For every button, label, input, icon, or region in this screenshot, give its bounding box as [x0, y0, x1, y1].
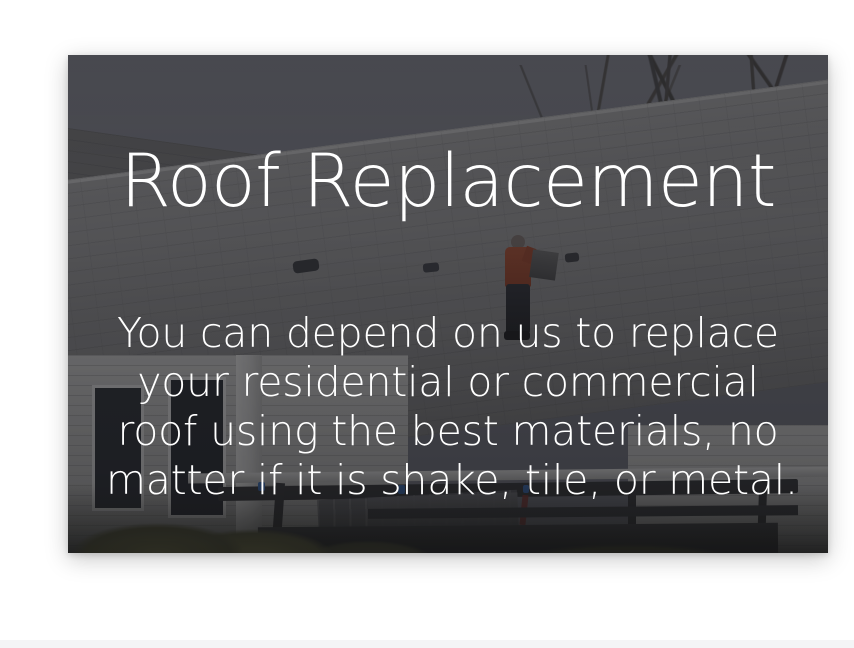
page-root: Roof Replacement You can depend on us to…: [0, 0, 854, 648]
hero-description-line-1: You can depend on us to replace: [106, 309, 790, 358]
hero-description-line-2: your residential or commercial: [106, 358, 790, 407]
hero-description: You can depend on us to replace your res…: [106, 309, 790, 505]
hero-description-line-4: matter if it is shake, tile, or metal.: [106, 456, 790, 505]
hero-content: Roof Replacement You can depend on us to…: [68, 55, 828, 553]
page-title: Roof Replacement: [68, 141, 828, 223]
hero-description-line-3: roof using the best materials, no: [106, 407, 790, 456]
section-divider: [0, 640, 854, 648]
hero-card: Roof Replacement You can depend on us to…: [68, 55, 828, 553]
